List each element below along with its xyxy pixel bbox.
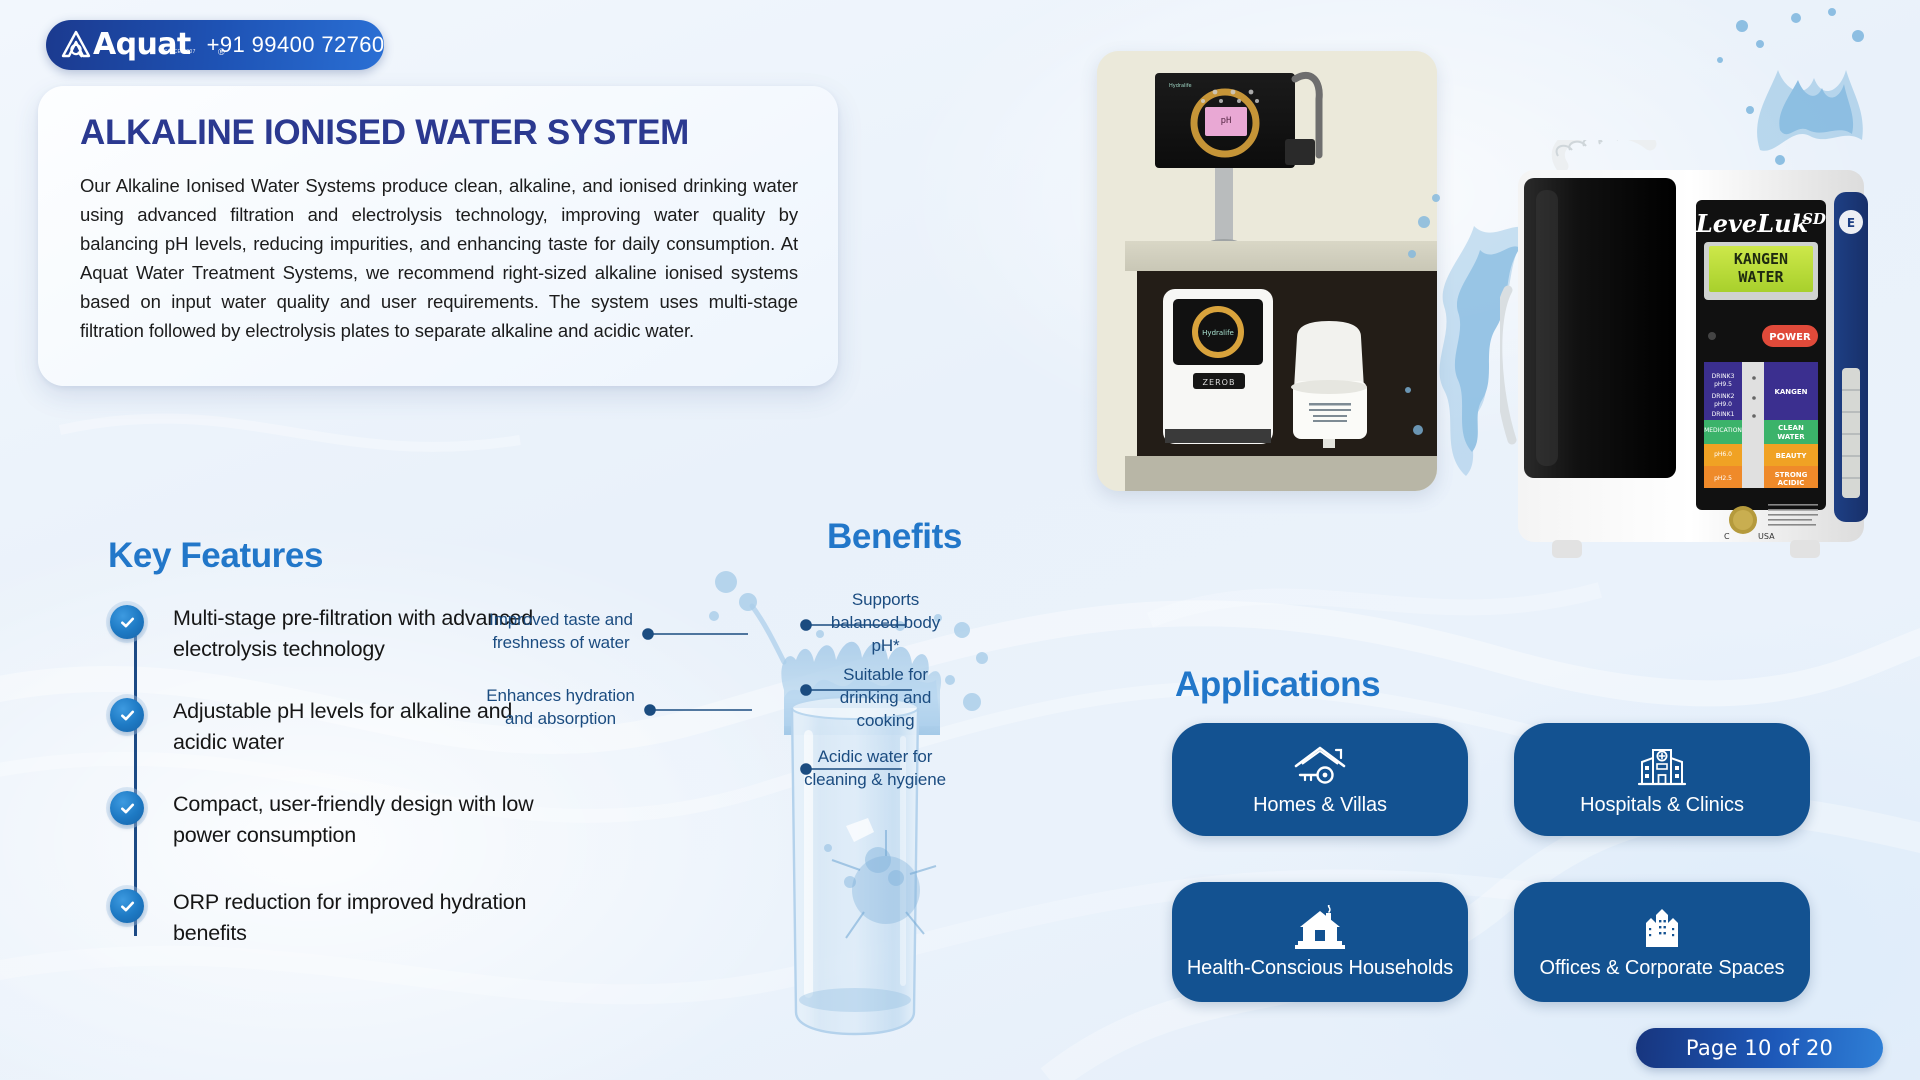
svg-text:KANGEN: KANGEN: [1774, 388, 1807, 396]
check-circle-icon: [110, 698, 144, 732]
list-item: Multi-stage pre-filtration with advanced…: [110, 602, 550, 664]
svg-text:KANGEN: KANGEN: [1734, 250, 1788, 268]
svg-text:pH9.0: pH9.0: [1714, 401, 1732, 408]
key-features-heading: Key Features: [108, 536, 323, 576]
key-feature-label: ORP reduction for improved hydration ben…: [173, 886, 550, 948]
key-features-list: Multi-stage pre-filtration with advanced…: [110, 602, 550, 979]
svg-text:MEDICATION: MEDICATION: [1704, 427, 1742, 434]
intro-paragraph: Our Alkaline Ionised Water Systems produ…: [80, 171, 798, 345]
application-card-health-conscious-households[interactable]: Health-Conscious Households: [1172, 882, 1468, 1002]
svg-text:SD: SD: [1802, 210, 1826, 228]
leveluk-sd501-kangen-water-ionizer-photo: LeveLuk SD KANGEN WATER POWER DRINK3pH9.…: [1500, 140, 1880, 590]
application-label: Homes & Villas: [1253, 793, 1387, 817]
svg-text:DRINK2: DRINK2: [1712, 393, 1735, 400]
svg-text:pH9.5: pH9.5: [1714, 381, 1732, 388]
svg-text:POWER: POWER: [1769, 332, 1811, 343]
svg-text:pH: pH: [1221, 116, 1232, 126]
svg-text:WATER: WATER: [1777, 433, 1805, 441]
svg-text:LeveLuk: LeveLuk: [1695, 209, 1808, 238]
list-item: ORP reduction for improved hydration ben…: [110, 886, 550, 948]
svg-text:CLEAN: CLEAN: [1778, 424, 1804, 432]
brand-phone-number: +91 99400 72760: [207, 32, 385, 58]
application-card-offices-corporate-spaces[interactable]: Offices & Corporate Spaces: [1514, 882, 1810, 1002]
check-circle-icon: [110, 605, 144, 639]
application-card-hospitals-clinics[interactable]: Hospitals & Clinics: [1514, 723, 1810, 836]
applications-grid: Homes & Villas Hospitals & Clinics: [1172, 723, 1832, 1002]
svg-text:Hydralife: Hydralife: [1169, 83, 1192, 89]
svg-text:DRINK1: DRINK1: [1712, 411, 1735, 418]
svg-text:USA: USA: [1758, 532, 1775, 541]
svg-text:Hydralife: Hydralife: [1202, 329, 1234, 337]
benefit-label: Acidic water for cleaning & hygiene: [795, 745, 955, 791]
brand-name: Aquat: [93, 30, 191, 60]
office-towers-icon: [1636, 905, 1688, 951]
svg-text:pH6.0: pH6.0: [1714, 451, 1732, 458]
svg-text:WATER: WATER: [1738, 268, 1784, 286]
applications-heading: Applications: [1175, 665, 1380, 705]
svg-text:ACIDIC: ACIDIC: [1778, 479, 1805, 487]
page-number-badge: Page 10 of 20: [1636, 1028, 1883, 1068]
key-feature-label: Compact, user-friendly design with low p…: [173, 788, 550, 850]
svg-text:C: C: [1724, 532, 1730, 541]
svg-text:E: E: [1847, 216, 1855, 230]
benefit-label: Improved taste and freshness of water: [487, 608, 635, 654]
list-item: Compact, user-friendly design with low p…: [110, 788, 550, 850]
svg-text:DRINK3: DRINK3: [1712, 373, 1735, 380]
house-chimney-icon: [1293, 905, 1347, 951]
application-label: Hospitals & Clinics: [1580, 793, 1744, 817]
page-number-label: Page 10 of 20: [1686, 1036, 1833, 1060]
home-key-icon: [1289, 742, 1351, 788]
benefit-label: Suitable for drinking and cooking: [817, 663, 954, 732]
benefit-label: Supports balanced body pH*: [817, 588, 954, 657]
brand-since-text: SINCE 2007: [164, 49, 196, 55]
page-title: ALKALINE IONISED WATER SYSTEM: [80, 114, 798, 153]
check-circle-icon: [110, 791, 144, 825]
svg-text:ZEROB: ZEROB: [1203, 378, 1236, 387]
brand-trademark-icon: ®: [218, 47, 225, 57]
svg-text:STRONG: STRONG: [1775, 471, 1808, 479]
aquat-a-droplet-logo-icon: [60, 29, 92, 61]
benefit-label: Enhances hydration and absorption: [478, 684, 643, 730]
zerob-hydralife-water-purifier-photo: pH Hydralife Hydralife ZEROB: [1097, 51, 1437, 491]
intro-card: ALKALINE IONISED WATER SYSTEM Our Alkali…: [38, 86, 838, 386]
application-label: Health-Conscious Households: [1187, 956, 1453, 980]
check-circle-icon: [110, 889, 144, 923]
svg-text:BEAUTY: BEAUTY: [1776, 452, 1808, 460]
application-card-homes-villas[interactable]: Homes & Villas: [1172, 723, 1468, 836]
hospital-building-icon: [1636, 742, 1688, 788]
brand-logo-bar: Aquat SINCE 2007 ® +91 99400 72760: [46, 20, 384, 70]
svg-text:pH2.5: pH2.5: [1714, 475, 1732, 482]
application-label: Offices & Corporate Spaces: [1540, 956, 1785, 980]
